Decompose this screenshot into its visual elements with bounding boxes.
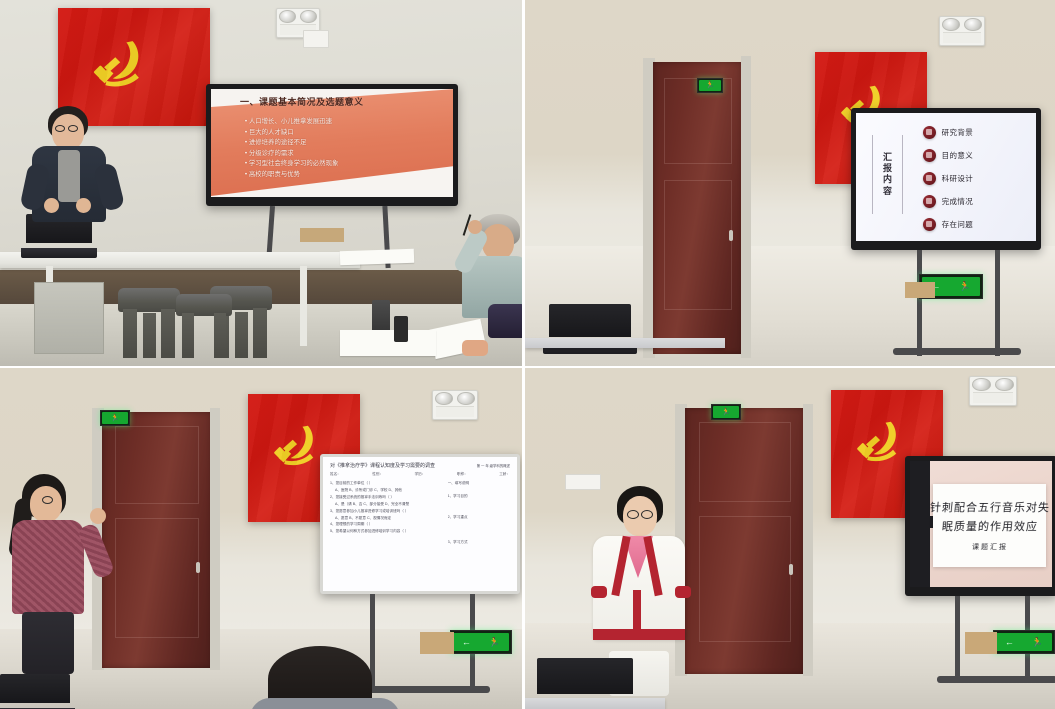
wall-tv: 汇 报 内 容 研究背景 目的意义 (851, 108, 1041, 250)
stool (118, 288, 180, 358)
tv-screen: 一、课题基本简况及选题意义 人口增长、小儿推拿发展迅速 巨大的人才缺口 进修培养… (211, 89, 453, 197)
tv-screen: 针刺配合五行音乐对失 眠质量的作用效应 课题汇报 (910, 461, 1052, 587)
glasses (68, 125, 78, 132)
exit-sign-icon: 🏃 (100, 410, 130, 426)
title-char: 内 (883, 175, 892, 184)
exit-sign-icon: 🏃 (697, 78, 723, 93)
emergency-light-icon (939, 16, 985, 46)
agenda-item: 研究背景 (923, 126, 1031, 139)
head (52, 114, 84, 150)
laptop[interactable] (0, 674, 70, 709)
questionnaire-header-right: 第 一 年 级学科的概述 (477, 463, 510, 469)
hand (468, 220, 482, 234)
agenda-item: 完成情况 (923, 195, 1031, 208)
glasses (42, 496, 53, 504)
trousers (22, 612, 74, 674)
audience-shoulders (250, 698, 400, 709)
wall-tv: 一、课题基本简况及选题意义 人口增长、小儿推拿发展迅速 巨大的人才缺口 进修培养… (206, 84, 458, 206)
tv-stand-base (893, 348, 1021, 355)
tv-stand-pole-left (917, 250, 922, 356)
cuff-right (675, 586, 691, 598)
torso-maroon-blouse (12, 520, 84, 614)
note-line: 2、学习重点 (448, 514, 510, 521)
field-label: 学历： (415, 472, 426, 477)
glasses (55, 125, 65, 132)
arrow-left-icon: ← (1005, 638, 1014, 647)
bullet-icon (923, 172, 936, 185)
door-handle[interactable] (196, 562, 200, 573)
field-label: 工龄： (499, 472, 510, 477)
hammer-sickle-emblem (851, 412, 907, 466)
hand-left (44, 198, 59, 213)
title-paper: 针刺配合五行音乐对失 眠质量的作用效应 课题汇报 (933, 484, 1047, 567)
stool (176, 294, 232, 358)
agenda-label: 存在问题 (942, 219, 974, 230)
slide-bullet: 人口增长、小儿推拿发展迅速 (245, 117, 338, 128)
projector-screen: 对《推拿治疗学》课程认知度及学习需要的调查 第 一 年 级学科的概述 姓名： 性… (320, 454, 520, 594)
inner-shirt (58, 150, 80, 202)
tv-screen: 汇 报 内 容 研究背景 目的意义 (856, 113, 1036, 241)
title-char: 报 (883, 164, 892, 173)
panel-top-left: 一、课题基本简况及选题意义 人口增长、小儿推拿发展迅速 巨大的人才缺口 进修培养… (0, 0, 525, 368)
agenda-item: 科研设计 (923, 172, 1031, 185)
hand-holding-paper (462, 340, 488, 356)
slide-questionnaire: 对《推拿治疗学》课程认知度及学习需要的调查 第 一 年 级学科的概述 姓名： 性… (323, 457, 517, 591)
title-char: 容 (883, 187, 892, 196)
question-line: A、是（请 B、否 C、部分接受 D、完全不清楚 (330, 501, 442, 508)
running-figure-icon: 🏃 (1032, 638, 1043, 647)
question-line: 5、您希望以何种方式参加进修培训学习内容（ ） (330, 528, 442, 535)
note-line: 1、学习目的 (448, 493, 510, 500)
hand (90, 508, 106, 524)
panel-bottom-right: 🏃 (525, 368, 1055, 709)
bullet-icon (923, 218, 936, 231)
hand-right (76, 198, 91, 213)
title-char: 汇 (883, 153, 892, 162)
head (30, 486, 62, 522)
papers-on-table (340, 330, 436, 356)
exit-sign-icon: ← 🏃 (993, 630, 1055, 654)
agenda-item: 存在问题 (923, 218, 1031, 231)
handbag (488, 304, 525, 338)
table (525, 338, 725, 348)
running-figure-icon: 🏃 (959, 282, 970, 291)
glasses (641, 510, 653, 519)
agenda-item: 目的意义 (923, 149, 1031, 162)
handwritten-line-2: 眠质量的作用效应 (941, 518, 1038, 534)
slide-bullet: 学习型社会终身学习的必然现象 (245, 159, 338, 170)
note-line: 3、学习方式 (448, 539, 510, 546)
questionnaire-fields: 姓名： 性别： 学历： 职称： 工龄： (330, 472, 510, 477)
cardigan-hem (593, 629, 685, 640)
slide-bullet: 分级诊疗的需求 (245, 149, 338, 160)
door-handle[interactable] (789, 564, 793, 575)
field-label: 性别： (372, 472, 383, 477)
field-label: 职称： (457, 472, 468, 477)
wooden-door[interactable] (102, 412, 212, 668)
emergency-light-icon (969, 376, 1017, 406)
question-line: A、医院 B、诊所或门诊 C、学校 D、其他 (330, 487, 442, 494)
slide-bullet: 巨大的人才缺口 (245, 128, 338, 139)
agenda-label: 研究背景 (942, 127, 974, 138)
panel-top-right: 🏃 (525, 0, 1055, 368)
questionnaire-left-column: 1、您目前的工作单位（ ） A、医院 B、诊所或门诊 C、学校 D、其他 2、您… (330, 480, 442, 545)
slide-bullet: 高校的职责与优势 (245, 170, 338, 181)
marker (394, 316, 408, 342)
cardboard-box (965, 632, 997, 654)
bullet-icon (923, 195, 936, 208)
panel-bottom-left: 🏃 (0, 368, 525, 709)
cardboard-box (420, 632, 454, 654)
cardboard-box (905, 282, 935, 298)
wooden-door[interactable] (653, 62, 743, 354)
agenda-items: 研究背景 目的意义 科研设计 完成情况 (923, 126, 1031, 231)
door-frame (210, 408, 220, 670)
seated-reviewer-gray-hair (440, 212, 525, 362)
hammer-sickle-emblem (268, 416, 324, 470)
bullet-icon (923, 149, 936, 162)
presenter-woman-navy-jacket (18, 106, 122, 256)
slide-report-contents: 汇 报 内 容 研究背景 目的意义 (856, 113, 1036, 241)
head (482, 224, 514, 260)
handwritten-author: 课题汇报 (971, 542, 1008, 552)
table (525, 698, 665, 709)
question-line: 3、您愿意参加小儿推拿进修学习或培训班吗（ ） (330, 508, 442, 515)
agenda-label: 目的意义 (942, 150, 974, 161)
cardboard-box (300, 228, 344, 242)
field-label: 姓名： (330, 472, 341, 477)
exit-sign-icon: ← 🏃 (450, 630, 512, 654)
question-line: 1、您目前的工作单位（ ） (330, 480, 442, 487)
door-handle[interactable] (729, 230, 733, 241)
question-line: A、愿意 B、不愿意 C、视情况而定 (330, 515, 442, 522)
slide-handwritten-title: 针刺配合五行音乐对失 眠质量的作用效应 课题汇报 (910, 461, 1052, 587)
tv-stand-base (937, 676, 1055, 683)
questionnaire-title: 对《推拿治疗学》课程认知度及学习需要的调查 (330, 462, 435, 469)
questionnaire-right-column: 一、填写说明 1、学习目的 2、学习重点 3、学习方式 (442, 480, 510, 545)
handwritten-line-1: 针刺配合五行音乐对失 (929, 499, 1050, 515)
slide-basic-overview: 一、课题基本简况及选题意义 人口增长、小儿推拿发展迅速 巨大的人才缺口 进修培养… (211, 89, 453, 197)
hammer-sickle-emblem (86, 30, 152, 92)
slide-bullet: 进修培养的途径不足 (245, 138, 338, 149)
wall-switch[interactable] (303, 30, 329, 48)
bullet-icon (923, 126, 936, 139)
door-frame (741, 56, 751, 358)
question-line: 4、您理想的学习周期（ ） (330, 521, 442, 528)
glasses (627, 510, 639, 519)
cuff-left (591, 586, 607, 598)
slide-title-vertical: 汇 报 内 容 (872, 135, 903, 214)
presenter-woman-maroon-blouse (4, 474, 100, 674)
tv-stand-pole-right (995, 250, 1000, 356)
question-line: 2、您接受过系统的推拿手法训练吗（ ） (330, 494, 442, 501)
slide-bullet-list: 人口增长、小儿推拿发展迅速 巨大的人才缺口 进修培养的途径不足 分级诊疗的需求 … (245, 117, 338, 180)
tv-stand-pole-left (955, 596, 960, 682)
note-line: 一、填写说明 (448, 480, 510, 487)
agenda-label: 科研设计 (942, 173, 974, 184)
papers-on-table (340, 249, 414, 266)
slide-title: 一、课题基本简况及选题意义 (240, 95, 364, 108)
agenda-label: 完成情况 (942, 196, 974, 207)
exit-sign-icon: 🏃 (711, 404, 741, 420)
emergency-light-icon (432, 390, 478, 420)
photo-collage: 一、课题基本简况及选题意义 人口增长、小儿推拿发展迅速 巨大的人才缺口 进修培养… (0, 0, 1055, 709)
running-figure-icon: 🏃 (489, 638, 500, 647)
wall-tv: 针刺配合五行音乐对失 眠质量的作用效应 课题汇报 (905, 456, 1055, 596)
table-leg (300, 266, 307, 346)
arrow-left-icon: ← (462, 638, 471, 647)
side-cabinet (34, 282, 104, 354)
wooden-door[interactable] (685, 408, 805, 674)
door-frame (803, 404, 813, 676)
screen-surface: 对《推拿治疗学》课程认知度及学习需要的调查 第 一 年 级学科的概述 姓名： 性… (323, 457, 517, 591)
